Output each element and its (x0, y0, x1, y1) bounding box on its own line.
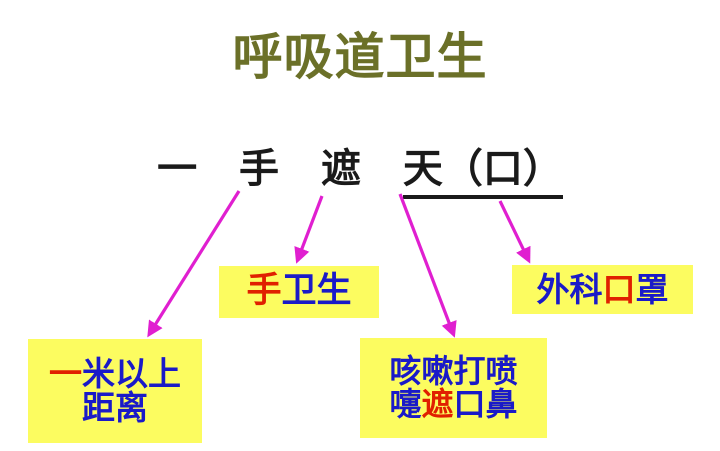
arrow-to-cough-icon (400, 194, 453, 333)
callout-text-segment: 嚏 (389, 385, 421, 423)
callout-text-segment: 一 (49, 354, 82, 393)
callout-line: 外科口罩 (537, 273, 669, 307)
callout-text-segment: 遮 (421, 385, 453, 423)
callout-text-segment: 口鼻 (454, 385, 518, 423)
callout-box-hand-hygiene: 手卫生 (219, 266, 379, 318)
callout-text-segment: 卫生 (282, 271, 352, 311)
idiom-underlined-part: 天（口） (403, 146, 563, 199)
slide-canvas: 呼吸道卫生 一 手 遮 天（口） 手卫生 外科口罩 一米以上 距离 咳嗽打喷 嚏… (0, 0, 720, 451)
callout-line: 距离 (82, 391, 148, 425)
callout-box-cough-etiquette: 咳嗽打喷 嚏遮口鼻 (360, 338, 547, 438)
callout-line: 嚏遮口鼻 (389, 388, 517, 421)
callout-line: 一米以上 (49, 357, 181, 391)
callout-text-segment: 手 (246, 271, 281, 311)
callout-text-segment: 罩 (636, 270, 669, 309)
callout-text-segment: 距离 (82, 388, 148, 427)
arrow-to-mask-icon (500, 201, 528, 259)
callout-line: 咳嗽打喷 (389, 355, 517, 388)
page-title: 呼吸道卫生 (0, 28, 720, 86)
callout-text-segment: 外科 (537, 270, 603, 309)
callout-line: 手卫生 (246, 274, 351, 310)
callout-text-segment: 口 (603, 270, 636, 309)
callout-box-distance: 一米以上 距离 (28, 339, 202, 443)
idiom-prefix: 一 手 遮 (157, 146, 403, 192)
arrow-to-hand-icon (298, 196, 322, 259)
callout-box-surgical-mask: 外科口罩 (512, 265, 693, 314)
idiom-line: 一 手 遮 天（口） (0, 145, 720, 193)
